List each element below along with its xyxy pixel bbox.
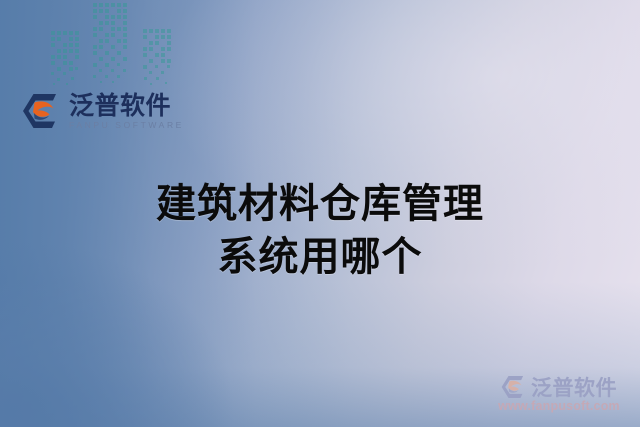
brand-logo-text: 泛普软件 FANPU SOFTWARE [69, 93, 184, 130]
banner-image: 泛普软件 FANPU SOFTWARE 建筑材料仓库管理 系统用哪个 泛普软件 … [0, 0, 640, 427]
watermark: 泛普软件 www.fanpusoft.com [485, 372, 633, 413]
brand-name-cn: 泛普软件 [69, 93, 184, 118]
pixel-skyline-icon [44, 0, 194, 86]
brand-name-en: FANPU SOFTWARE [69, 121, 184, 130]
headline-line-2: 系统用哪个 [0, 231, 640, 284]
fanpu-logo-mark-watermark-icon [501, 375, 527, 399]
watermark-brand-name: 泛普软件 [531, 372, 617, 402]
fanpu-logo-mark-icon [22, 93, 62, 129]
watermark-url: www.fanpusoft.com [485, 399, 633, 413]
headline-title: 建筑材料仓库管理 系统用哪个 [0, 178, 640, 284]
watermark-logo-row: 泛普软件 [485, 372, 633, 402]
brand-logo: 泛普软件 FANPU SOFTWARE [22, 86, 182, 136]
headline-line-1: 建筑材料仓库管理 [0, 178, 640, 231]
